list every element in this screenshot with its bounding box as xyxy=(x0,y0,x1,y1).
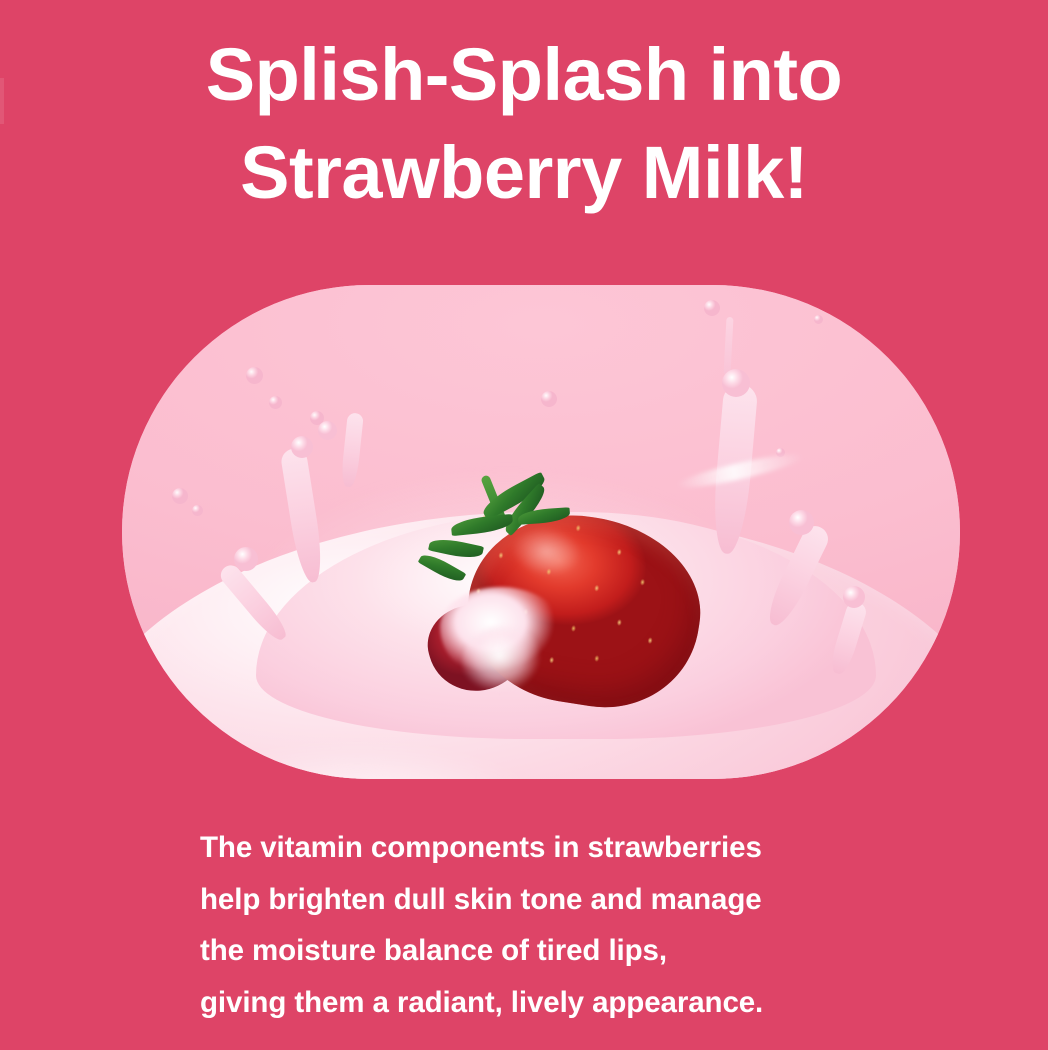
product-banner: Splish-Splash into Strawberry Milk! xyxy=(0,0,1048,1050)
milk-droplet-icon xyxy=(246,367,263,384)
milk-splash-overlay xyxy=(462,626,545,700)
milk-droplet-icon xyxy=(172,488,188,504)
milk-blob xyxy=(291,436,313,458)
headline-line-1: Splish-Splash into xyxy=(0,26,1048,124)
description-text: The vitamin components in strawberries h… xyxy=(200,822,920,1029)
strawberry-milk-photo xyxy=(122,285,960,779)
description-line-1: The vitamin components in strawberries xyxy=(200,822,920,874)
description-line-4: giving them a radiant, lively appearance… xyxy=(200,977,920,1029)
milk-blob xyxy=(789,510,814,535)
milk-blob xyxy=(318,421,337,440)
milk-blob xyxy=(722,369,750,397)
description-line-2: help brighten dull skin tone and manage xyxy=(200,874,920,926)
milk-droplet-icon xyxy=(814,315,823,324)
headline-line-2: Strawberry Milk! xyxy=(0,124,1048,222)
milk-pool-highlight xyxy=(147,738,673,779)
headline: Splish-Splash into Strawberry Milk! xyxy=(0,26,1048,223)
milk-blob xyxy=(843,586,865,608)
milk-blob xyxy=(234,547,258,571)
strawberry-icon xyxy=(424,483,701,700)
description-line-3: the moisture balance of tired lips, xyxy=(200,925,920,977)
